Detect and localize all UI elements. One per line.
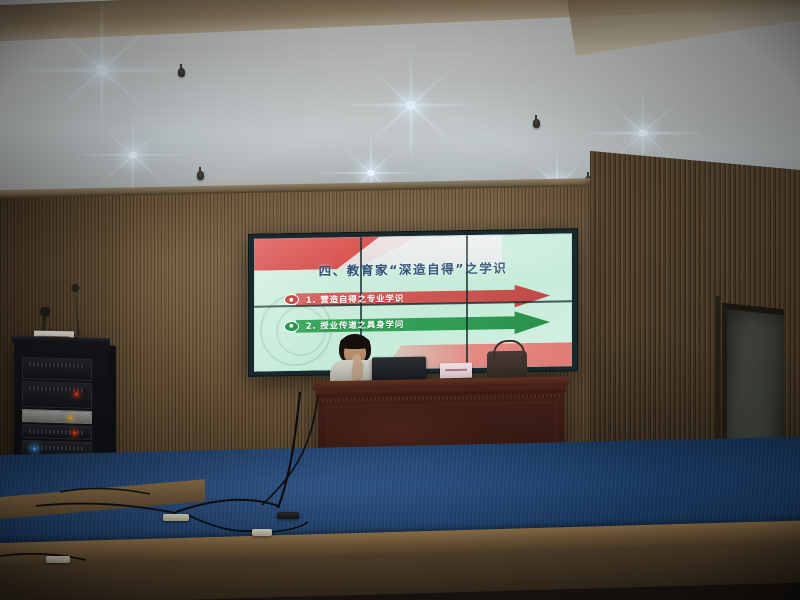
rack-unit-4[interactable] bbox=[22, 424, 92, 440]
slide-bullet-1: ● 1. 营造自得之专业学识 bbox=[286, 284, 540, 311]
rack-unit-2[interactable] bbox=[22, 381, 92, 409]
power-strip-1 bbox=[163, 514, 189, 521]
led-indicator-red bbox=[75, 393, 78, 396]
rack-unit-vents bbox=[29, 362, 85, 368]
led-indicator-amber bbox=[69, 416, 72, 419]
video-wall[interactable]: 四、教育家“深造自得”之学识 ● 1. 营造自得之专业学识 ● 2. 授业传道之… bbox=[248, 228, 578, 377]
power-strip-2 bbox=[252, 529, 272, 536]
presenter-fringe bbox=[340, 336, 370, 349]
slide-bullet-2-text: 2. 授业传道之具身学问 bbox=[306, 319, 404, 333]
name-card bbox=[440, 363, 472, 379]
power-strip-3 bbox=[277, 512, 299, 519]
rack-unit-1[interactable] bbox=[22, 357, 92, 381]
slide-bullet-1-text: 1. 营造自得之专业学识 bbox=[306, 292, 404, 306]
lecture-hall-scene: 四、教育家“深造自得”之学识 ● 1. 营造自得之专业学识 ● 2. 授业传道之… bbox=[0, 0, 800, 600]
sprinkler-head-2 bbox=[197, 171, 204, 180]
rack-unit-vents bbox=[29, 445, 85, 451]
power-strip-4 bbox=[46, 556, 70, 563]
rack-unit-vents bbox=[29, 386, 85, 392]
led-indicator-red bbox=[73, 431, 76, 434]
presenter-hand bbox=[352, 354, 361, 363]
slide-bullet-2: ● 2. 授业传道之具身学问 bbox=[286, 311, 540, 338]
circle-badge-icon: ● bbox=[284, 321, 299, 332]
rack-unit-vents bbox=[29, 429, 85, 435]
sprinkler-head-3 bbox=[533, 119, 540, 128]
led-indicator-blue bbox=[33, 447, 36, 450]
sprinkler-head-1 bbox=[178, 68, 185, 77]
rack-unit-3[interactable] bbox=[22, 409, 92, 424]
